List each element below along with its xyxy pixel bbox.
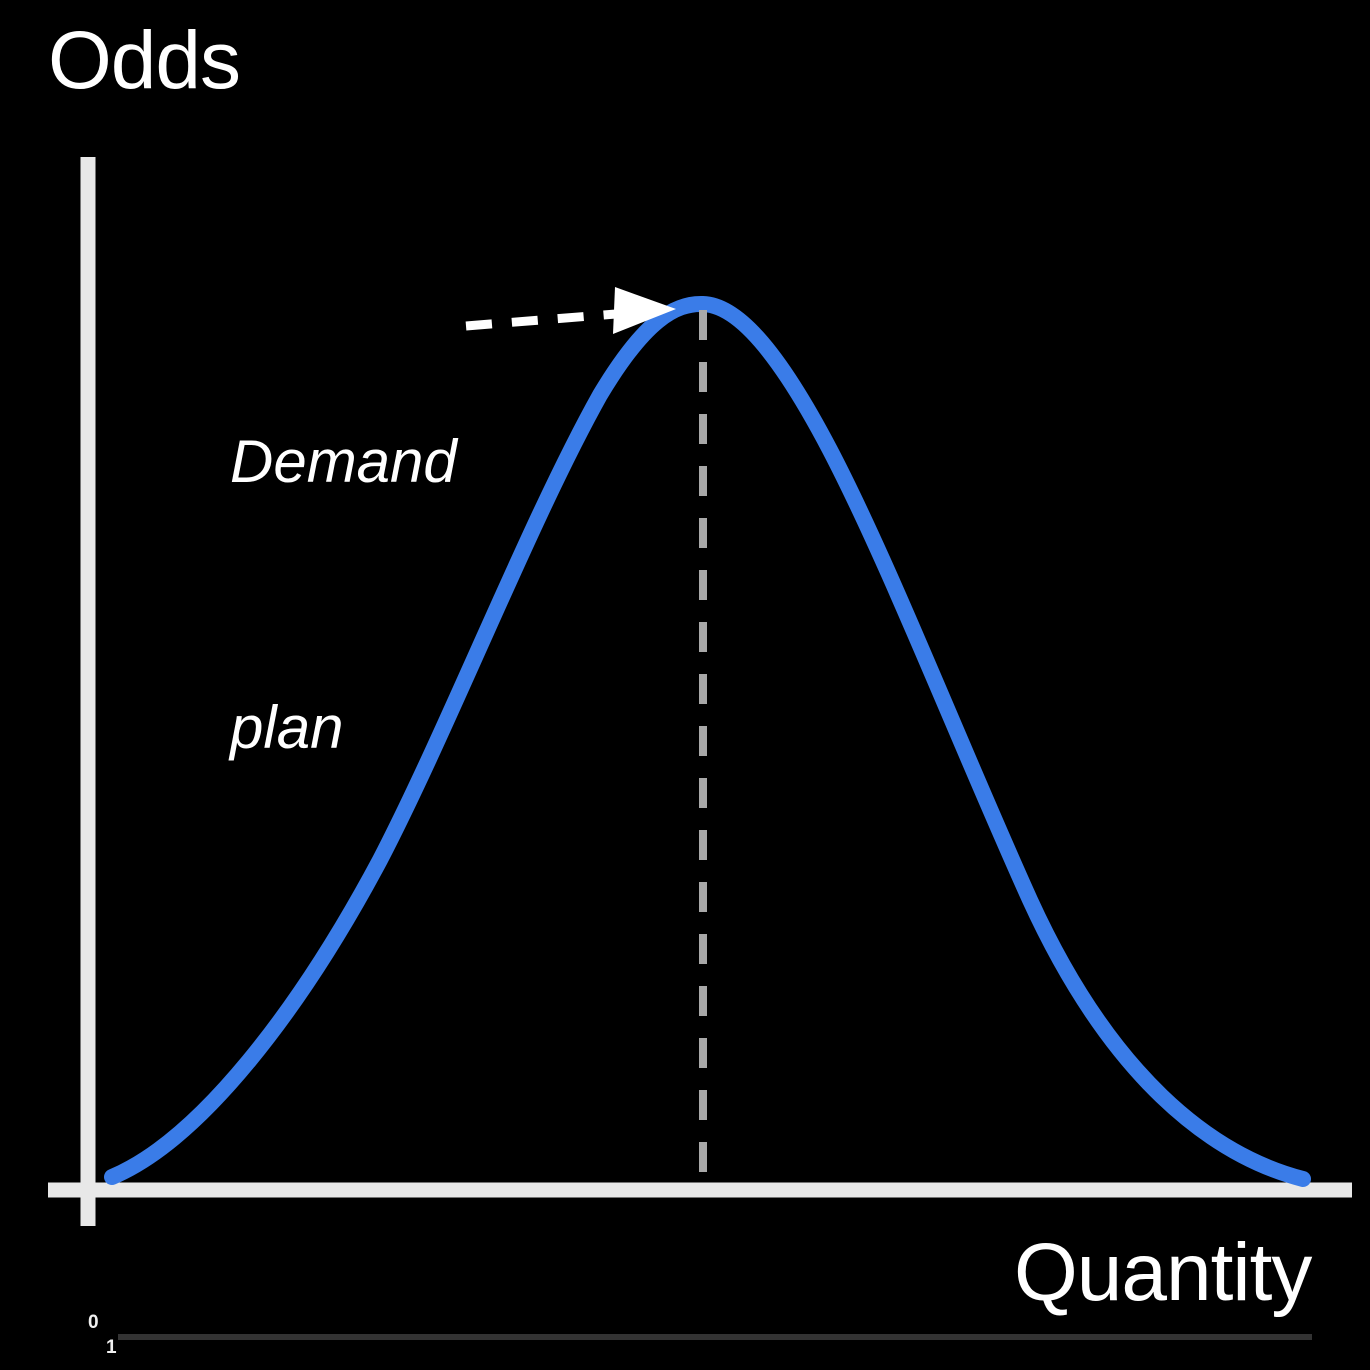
annotation-arrow-line [466,313,628,326]
chart-figure: Odds Quantity Demand plan 0 1 [0,0,1370,1370]
y-axis-title: Odds [48,20,240,102]
footer-number-zero: 0 [88,1313,99,1332]
plot-area [0,0,1370,1370]
x-axis-title: Quantity [1014,1232,1311,1314]
footer-number-one: 1 [106,1338,117,1357]
curve-annotation-line-2: plan [230,684,457,773]
curve-annotation: Demand plan [230,240,457,950]
curve-annotation-line-1: Demand [230,418,457,507]
